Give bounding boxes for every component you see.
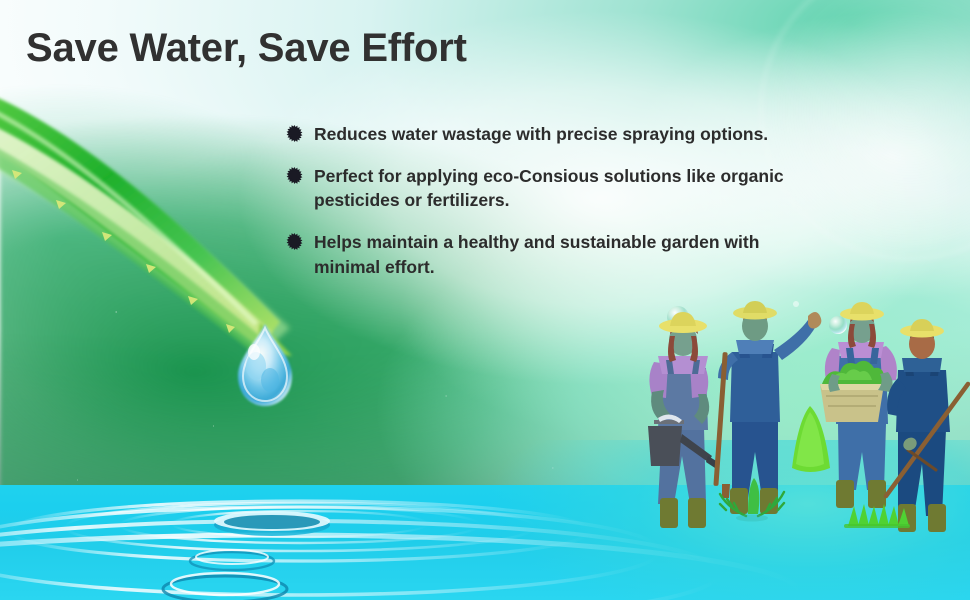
promo-banner: Save Water, Save Effort Reduces water wa… xyxy=(0,0,970,600)
gardener-with-rake xyxy=(886,319,968,532)
green-bush xyxy=(792,406,830,472)
gardener-with-watering-can xyxy=(648,312,718,528)
list-item-text: Helps maintain a healthy and sustainable… xyxy=(314,230,759,278)
page-title: Save Water, Save Effort xyxy=(26,26,467,71)
gardener-waving-with-shovel xyxy=(713,301,821,514)
starburst-bullet-icon xyxy=(286,125,303,142)
list-item-text: Reduces water wastage with precise spray… xyxy=(314,122,768,146)
list-item: Helps maintain a healthy and sustainable… xyxy=(286,230,886,278)
water-droplet xyxy=(232,322,298,410)
gardeners-illustration xyxy=(640,300,970,600)
gardener-with-vegetable-basket xyxy=(820,302,897,508)
starburst-bullet-icon xyxy=(286,233,303,250)
starburst-bullet-icon xyxy=(286,167,303,184)
feature-bullet-list: Reduces water wastage with precise spray… xyxy=(286,122,886,297)
list-item-text: Perfect for applying eco-Consious soluti… xyxy=(314,164,784,212)
list-item: Perfect for applying eco-Consious soluti… xyxy=(286,164,886,212)
list-item: Reduces water wastage with precise spray… xyxy=(286,122,886,146)
